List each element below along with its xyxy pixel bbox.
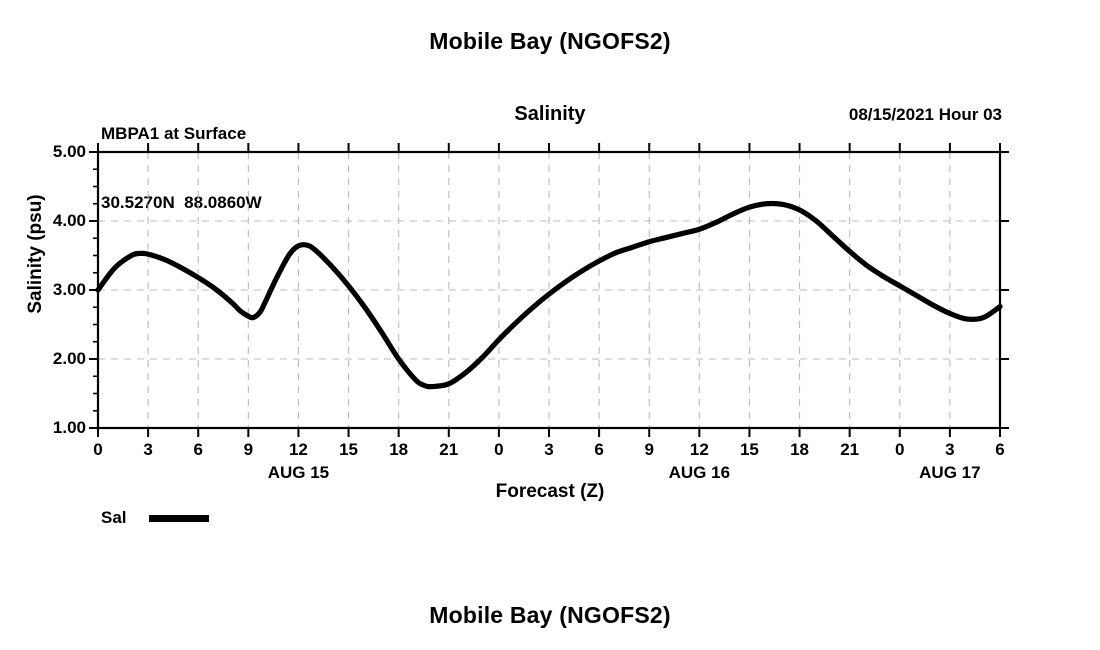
x-tick-label: 15 (729, 440, 769, 460)
x-tick-label: 3 (529, 440, 569, 460)
legend-swatch-sal (149, 515, 209, 522)
chart-svg (0, 0, 1100, 650)
x-tick-label: 3 (128, 440, 168, 460)
x-tick-label: 21 (429, 440, 469, 460)
x-tick-label: 3 (930, 440, 970, 460)
x-tick-label: 18 (780, 440, 820, 460)
legend-label-sal: Sal (101, 508, 127, 528)
x-axis-title: Forecast (Z) (0, 481, 1100, 503)
x-tick-label: 9 (629, 440, 669, 460)
y-axis-title: Salinity (psu) (25, 154, 47, 354)
x-day-label: AUG 15 (238, 463, 358, 483)
legend: Sal (101, 508, 209, 528)
plot-area: 1.002.003.004.005.00 0369121518210369121… (0, 0, 1100, 650)
x-tick-label: 6 (178, 440, 218, 460)
x-tick-label: 0 (78, 440, 118, 460)
x-tick-label: 6 (980, 440, 1020, 460)
chart-page: Mobile Bay (NGOFS2) MBPA1 at Surface 30.… (0, 0, 1100, 650)
x-tick-label: 0 (479, 440, 519, 460)
x-tick-label: 18 (379, 440, 419, 460)
x-tick-label: 6 (579, 440, 619, 460)
gridlines (98, 152, 1000, 428)
x-tick-label: 15 (329, 440, 369, 460)
x-tick-label: 0 (880, 440, 920, 460)
x-tick-label: 9 (228, 440, 268, 460)
y-tick-label: 1.00 (24, 418, 86, 438)
x-tick-label: 12 (679, 440, 719, 460)
x-tick-label: 12 (278, 440, 318, 460)
x-day-label: AUG 16 (639, 463, 759, 483)
footer-title: Mobile Bay (NGOFS2) (0, 602, 1100, 629)
x-day-label: AUG 17 (890, 463, 1010, 483)
x-tick-label: 21 (830, 440, 870, 460)
